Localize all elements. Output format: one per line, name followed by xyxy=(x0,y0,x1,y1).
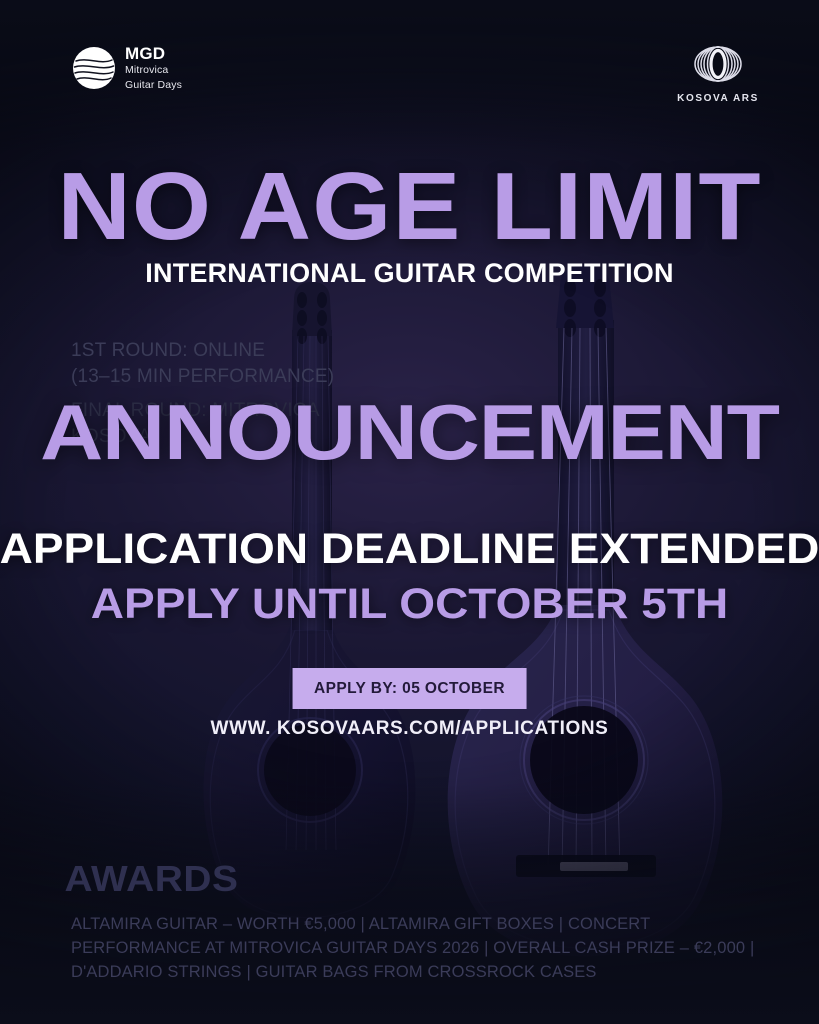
mgd-line1: Mitrovica xyxy=(125,64,182,77)
deadline-apply-line: APPLY UNTIL OCTOBER 5TH xyxy=(0,583,819,626)
apply-by-badge[interactable]: APPLY BY: 05 OCTOBER xyxy=(292,668,527,709)
kosova-ars-rings-icon xyxy=(690,40,746,88)
page-title: NO AGE LIMIT xyxy=(0,166,819,249)
mgd-logo-text: MGD Mitrovica Guitar Days xyxy=(125,44,182,93)
mgd-line2: Guitar Days xyxy=(125,79,182,92)
kosova-ars-logo[interactable]: KOSOVA ARS xyxy=(676,40,760,104)
mgd-logo[interactable]: MGD Mitrovica Guitar Days xyxy=(73,44,182,93)
round-info-line2: (13–15 MIN PERFORMANCE) xyxy=(71,364,334,390)
awards-line: PERFORMANCE AT MITROVICA GUITAR DAYS 202… xyxy=(71,937,771,961)
kosova-ars-label: KOSOVA ARS xyxy=(676,93,760,104)
round-info-line1: 1ST ROUND: ONLINE xyxy=(71,338,334,364)
deadline-block: APPLICATION DEADLINE EXTENDED APPLY UNTI… xyxy=(0,528,819,626)
poster-canvas: MGD Mitrovica Guitar Days xyxy=(0,0,819,1024)
round-info: 1ST ROUND: ONLINE (13–15 MIN PERFORMANCE… xyxy=(71,338,334,390)
awards-line: D'ADDARIO STRINGS | GUITAR BAGS FROM CRO… xyxy=(71,961,771,985)
mgd-globe-icon xyxy=(73,47,115,89)
awards-heading: AWARDS xyxy=(65,861,239,897)
mgd-abbr: MGD xyxy=(125,45,182,62)
page-subtitle: INTERNATIONAL GUITAR COMPETITION xyxy=(0,258,819,289)
awards-list: ALTAMIRA GUITAR – WORTH €5,000 | ALTAMIR… xyxy=(71,913,771,984)
headline-block: NO AGE LIMIT INTERNATIONAL GUITAR COMPET… xyxy=(0,166,819,289)
applications-url[interactable]: WWW. KOSOVAARS.COM/APPLICATIONS xyxy=(0,718,819,740)
poster-content: MGD Mitrovica Guitar Days xyxy=(0,0,819,1024)
deadline-extended-line: APPLICATION DEADLINE EXTENDED xyxy=(0,528,819,571)
announcement-heading: ANNOUNCEMENT xyxy=(0,396,819,469)
awards-line: ALTAMIRA GUITAR – WORTH €5,000 | ALTAMIR… xyxy=(71,913,771,937)
